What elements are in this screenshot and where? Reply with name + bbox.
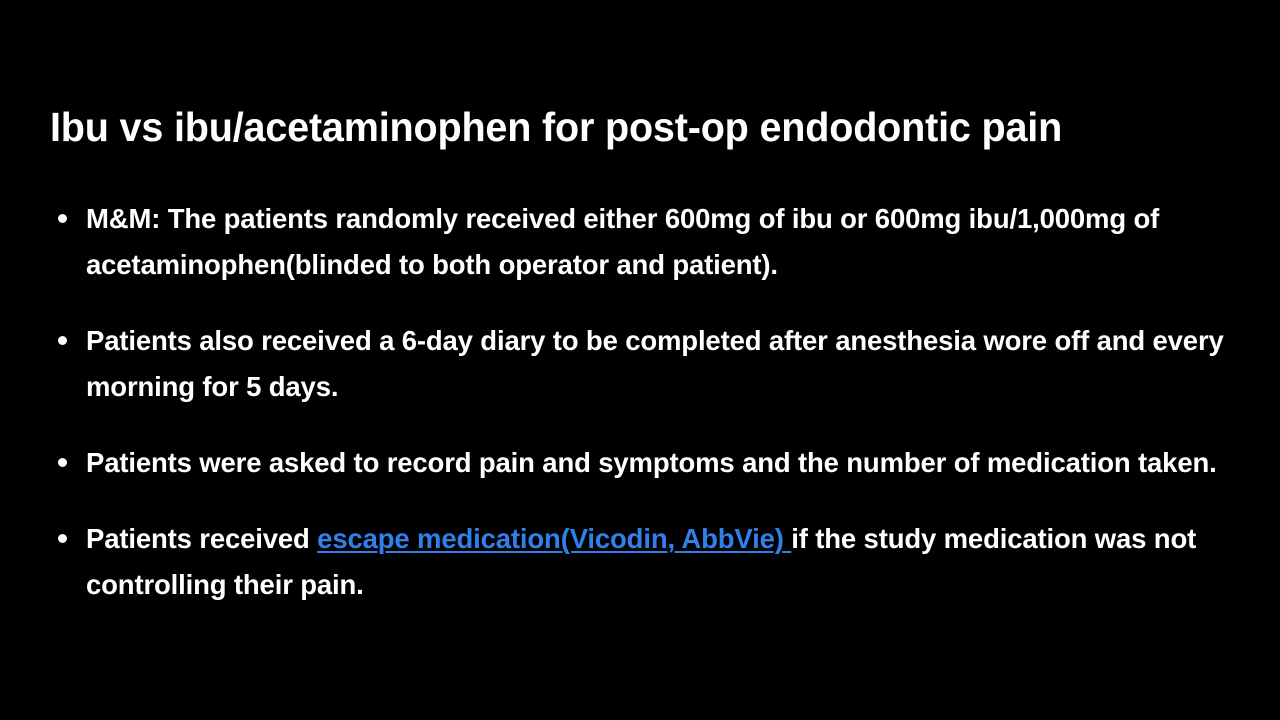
bullet-dot-icon: •	[58, 458, 67, 467]
escape-medication-link[interactable]: escape medication(Vicodin, AbbVie)	[317, 523, 791, 554]
list-item: • Patients received escape medication(Vi…	[50, 516, 1235, 608]
bullet-item-label: Patients were asked to record pain and s…	[86, 440, 1235, 486]
bullet-item-label: Patients also received a 6-day diary to …	[86, 318, 1235, 410]
list-item: • Patients also received a 6-day diary t…	[50, 318, 1235, 410]
bullet-dot-icon: •	[58, 336, 67, 345]
bullet-text-before-link: Patients received	[86, 523, 317, 554]
bullet-dot-icon: •	[58, 214, 67, 223]
bullet-dot-icon: •	[58, 534, 67, 543]
bullet-list: • M&M: The patients randomly received ei…	[50, 196, 1235, 608]
list-item: • M&M: The patients randomly received ei…	[50, 196, 1235, 288]
list-item: • Patients were asked to record pain and…	[50, 440, 1235, 486]
page-title: Ibu vs ibu/acetaminophen for post-op end…	[50, 103, 1198, 151]
bullet-item-label: Patients received escape medication(Vico…	[86, 516, 1235, 608]
slide-canvas: Ibu vs ibu/acetaminophen for post-op end…	[0, 0, 1280, 720]
bullet-item-label: M&M: The patients randomly received eith…	[86, 196, 1235, 288]
